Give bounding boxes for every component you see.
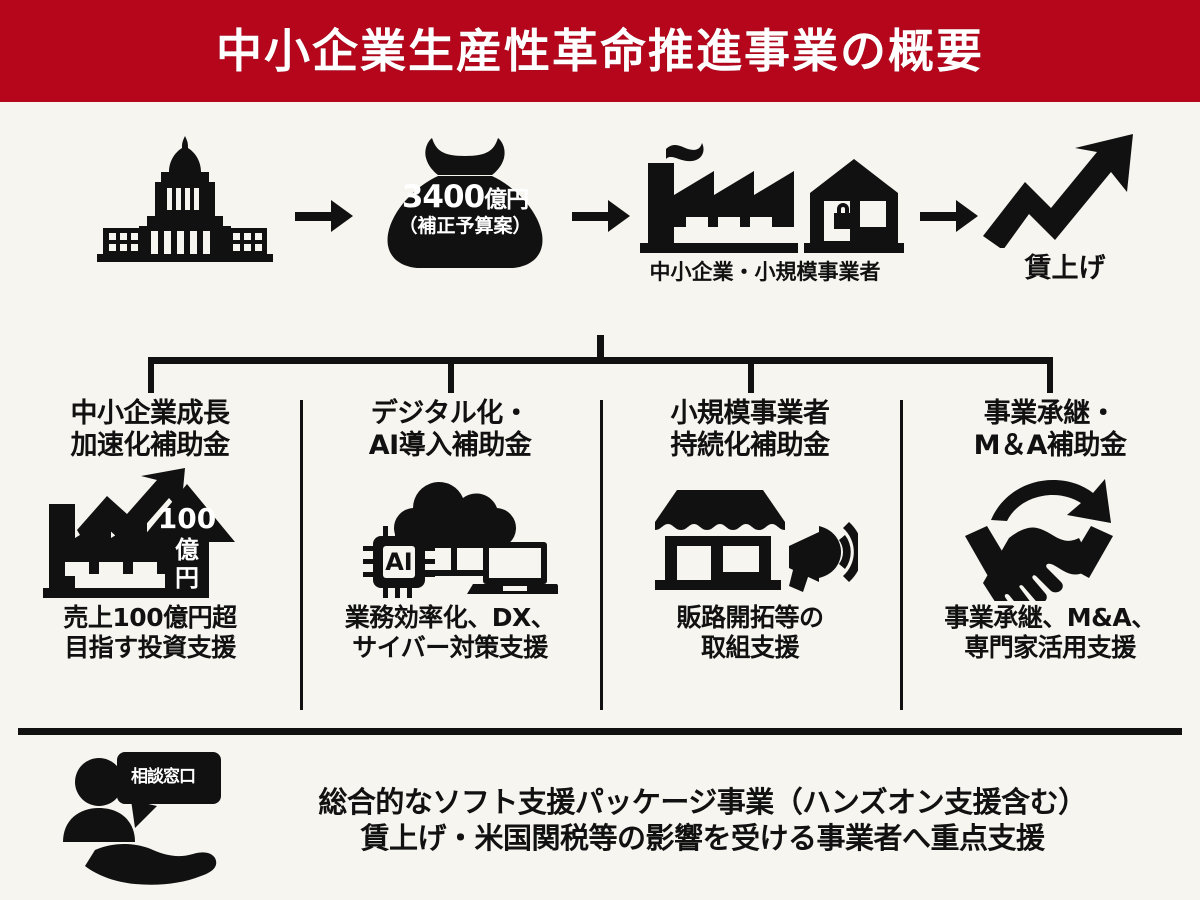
flow-node-smes: 中小企業・小規模事業者 bbox=[620, 135, 910, 284]
diet-building-icon bbox=[85, 128, 285, 263]
cloud-ai-chip-laptop-icon: AI bbox=[343, 466, 558, 601]
svg-text:100: 100 bbox=[157, 502, 215, 535]
subsidy-icon-wrap: 100 億 円 bbox=[43, 466, 258, 601]
flow-node-wage-increase: 賃上げ bbox=[975, 128, 1155, 284]
subsidy-icon-wrap bbox=[943, 466, 1158, 601]
support-package-line-1: 総合的なソフト支援パッケージ事業（ハンズオン支援含む） bbox=[245, 784, 1160, 820]
subsidy-caption: 業務効率化、DX、 サイバー対策支援 bbox=[345, 603, 556, 663]
header-banner: 中小企業生産性革命推進事業の概要 bbox=[0, 0, 1200, 102]
money-bag-icon: 3400億円 （補正予算案） bbox=[370, 130, 560, 270]
support-package-text: 総合的なソフト支援パッケージ事業（ハンズオン支援含む） 賃上げ・米国関税等の影響… bbox=[245, 784, 1160, 857]
subsidy-title: 中小企業成長 加速化補助金 bbox=[71, 398, 230, 462]
flow-node-budget: 3400億円 （補正予算案） bbox=[370, 130, 560, 270]
section-separator bbox=[18, 728, 1182, 735]
support-package-line-2: 賃上げ・米国関税等の影響を受ける事業者へ重点支援 bbox=[245, 820, 1160, 856]
subsidy-column-growth-acceleration[interactable]: 中小企業成長 加速化補助金 100 億 円 bbox=[0, 390, 300, 720]
column-divider bbox=[300, 400, 303, 710]
flow-diagram: 3400億円 （補正予算案） bbox=[0, 110, 1200, 300]
subsidy-title: 小規模事業者 持続化補助金 bbox=[671, 398, 830, 462]
subsidy-columns: 中小企業成長 加速化補助金 100 億 円 bbox=[0, 390, 1200, 720]
connector-drop-4 bbox=[1047, 357, 1053, 393]
handshake-arrow-icon bbox=[943, 466, 1158, 601]
subsidy-icon-wrap: AI bbox=[343, 466, 558, 601]
subsidy-icon-wrap bbox=[643, 466, 858, 601]
svg-text:億: 億 bbox=[175, 536, 199, 564]
column-divider bbox=[900, 400, 903, 710]
right-arrow-icon bbox=[920, 200, 980, 232]
growth-arrow-icon bbox=[975, 128, 1155, 248]
flow-node-smes-label: 中小企業・小規模事業者 bbox=[620, 261, 910, 284]
subsidy-caption: 売上100億円超 目指す投資支援 bbox=[63, 603, 236, 663]
connector-bus bbox=[148, 357, 1053, 364]
factory-growth-arrow-icon: 100 億 円 bbox=[43, 466, 258, 601]
support-package-section: 相談窓口 総合的なソフト支援パッケージ事業（ハンズオン支援含む） 賃上げ・米国関… bbox=[0, 745, 1200, 895]
subsidy-caption: 事業承継、M&A、 専門家活用支援 bbox=[944, 603, 1156, 663]
right-arrow-icon bbox=[295, 200, 355, 232]
factory-and-shop-icon bbox=[620, 135, 910, 255]
connector-drop-2 bbox=[448, 357, 454, 393]
connector-drop-3 bbox=[748, 357, 754, 393]
ai-chip-label: AI bbox=[385, 548, 413, 576]
svg-text:円: 円 bbox=[175, 564, 199, 592]
consultation-bubble-label: 相談窓口 bbox=[117, 762, 209, 787]
consultation-person-hand-icon: 相談窓口 bbox=[55, 750, 245, 890]
subsidy-column-digital-ai[interactable]: デジタル化・ AI導入補助金 bbox=[300, 390, 600, 720]
subsidy-caption: 販路開拓等の 取組支援 bbox=[676, 603, 823, 663]
subsidy-column-succession-ma[interactable]: 事業承継・ M＆A補助金 事業承継、M&A、 専門家活用支援 bbox=[900, 390, 1200, 720]
page-title: 中小企業生産性革命推進事業の概要 bbox=[216, 28, 984, 74]
subsidy-column-small-business-sustainability[interactable]: 小規模事業者 持続化補助金 販路開拓等の 取組支援 bbox=[600, 390, 900, 720]
shop-megaphone-icon bbox=[643, 466, 858, 601]
connector-drop-1 bbox=[148, 357, 154, 393]
subsidy-title: デジタル化・ AI導入補助金 bbox=[369, 398, 531, 462]
flow-node-government bbox=[85, 128, 285, 267]
subsidy-title: 事業承継・ M＆A補助金 bbox=[974, 398, 1127, 462]
flow-node-wage-increase-label: 賃上げ bbox=[975, 254, 1155, 284]
column-divider bbox=[600, 400, 603, 710]
